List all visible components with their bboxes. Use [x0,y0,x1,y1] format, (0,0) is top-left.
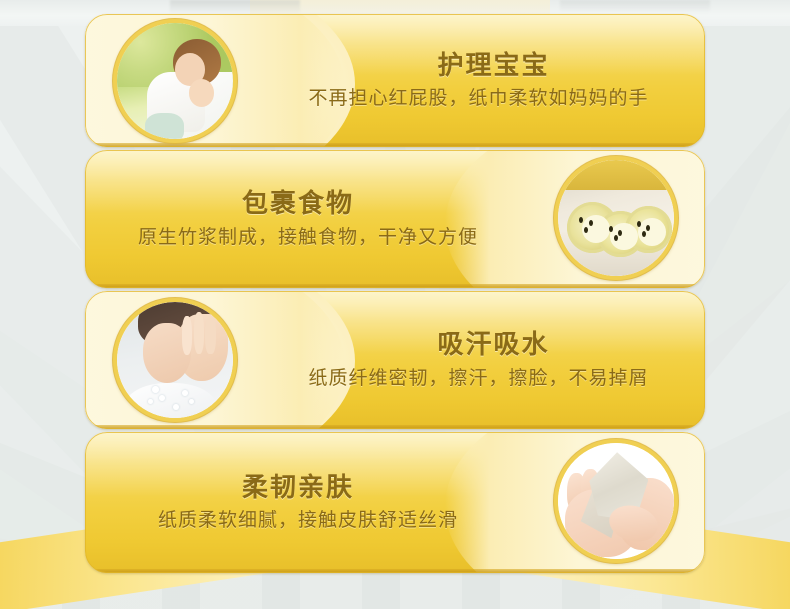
woman-washing-face-photo [113,298,237,422]
panel-subtitle: 纸质柔软细腻，接触皮肤舒适丝滑 [158,508,458,533]
feature-panel-soft-skin[interactable]: 柔韧亲肤 纸质柔软细腻，接触皮肤舒适丝滑 [85,432,705,573]
panel-text-block: 吸汗吸水 纸质纤维密韧，擦汗，擦脸，不易掉屑 [260,291,697,429]
background-top-cropped-artifact-right [560,0,710,12]
hands-holding-tissue-photo [554,439,678,563]
panel-title: 护理宝宝 [437,50,549,83]
feature-panel-wrap-food[interactable]: 包裹食物 原生竹浆制成，接触食物，干净又方便 [85,150,705,288]
panel-text-block: 包裹食物 原生竹浆制成，接触食物，干净又方便 [93,150,523,288]
kiwi-fruit-photo [554,156,678,280]
panel-subtitle: 纸质纤维密韧，擦汗，擦脸，不易掉屑 [308,366,648,391]
baby-photo [113,19,237,143]
feature-panel-absorb-sweat[interactable]: 吸汗吸水 纸质纤维密韧，擦汗，擦脸，不易掉屑 [85,291,705,429]
panel-title: 包裹食物 [242,188,354,221]
background-top-cropped-artifact-left [170,0,300,14]
panel-title: 吸汗吸水 [437,329,549,362]
panel-title: 柔韧亲肤 [242,472,354,505]
feature-panel-care-baby[interactable]: 护理宝宝 不再担心红屁股，纸巾柔软如妈妈的手 [85,14,705,147]
panel-text-block: 柔韧亲肤 纸质柔软细腻，接触皮肤舒适丝滑 [93,432,523,573]
panel-text-block: 护理宝宝 不再担心红屁股，纸巾柔软如妈妈的手 [260,14,697,147]
panel-subtitle: 原生竹浆制成，接触食物，干净又方便 [138,225,478,250]
feature-panel-list: 护理宝宝 不再担心红屁股，纸巾柔软如妈妈的手 [85,14,705,574]
panel-subtitle: 不再担心红屁股，纸巾柔软如妈妈的手 [308,86,648,111]
